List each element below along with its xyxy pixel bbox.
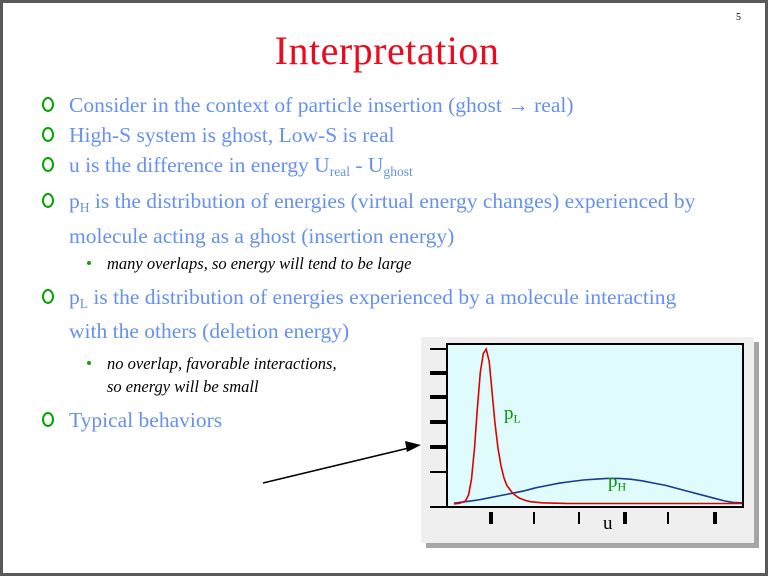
- bullet-item-4: pH is the distribution of energies (virt…: [39, 187, 739, 251]
- y-tick: [430, 506, 446, 508]
- label-ph-sub: H: [618, 479, 627, 493]
- slide-number: 5: [736, 12, 741, 23]
- y-tick: [430, 395, 446, 399]
- bullet-ring-icon: [42, 289, 54, 304]
- y-tick: [430, 471, 446, 473]
- bullet-text-mid: is the distribution of energies (virtual…: [69, 189, 695, 248]
- subscript-ghost: ghost: [383, 164, 412, 179]
- label-ph-base: p: [608, 471, 618, 492]
- x-tick: [533, 512, 535, 524]
- x-tick: [578, 512, 580, 524]
- subscript-real: real: [330, 164, 350, 179]
- subscript-h: H: [80, 200, 90, 215]
- label-pl-base: p: [504, 403, 514, 424]
- bullet-ring-icon: [42, 412, 54, 427]
- x-tick: [713, 512, 717, 524]
- y-tick: [430, 371, 446, 375]
- curve-pl: [454, 349, 742, 504]
- bullet-text: Consider in the context of particle inse…: [69, 93, 574, 117]
- bullet-text: Typical behaviors: [69, 408, 222, 432]
- bullet-text-mid: - U: [350, 153, 383, 177]
- label-pl-sub: L: [514, 411, 521, 425]
- bullet-text: u is the difference in energy U: [69, 153, 330, 177]
- curve-ph: [454, 478, 742, 503]
- curve-label-ph: pH: [608, 471, 626, 494]
- bullet-item-3: u is the difference in energy Ureal - Ug…: [39, 151, 739, 186]
- plot-area: pL pH: [446, 343, 744, 508]
- sub-bullet-item-1: many overlaps, so energy will tend to be…: [39, 252, 739, 275]
- bullet-ring-icon: [42, 127, 54, 142]
- bullet-text: p: [69, 189, 80, 213]
- x-axis-label: u: [603, 513, 613, 535]
- bullet-ring-icon: [42, 157, 54, 172]
- pointer-arrow: [253, 431, 428, 491]
- x-tick: [667, 512, 669, 524]
- y-tick: [430, 445, 446, 449]
- y-tick: [430, 420, 446, 424]
- sub-bullet-text-line1: no overlap, favorable interactions,: [107, 354, 337, 373]
- y-tick: [430, 348, 446, 350]
- bullet-item-2: High-S system is ghost, Low-S is real: [39, 121, 739, 150]
- slide: 5 Interpretation Consider in the context…: [0, 0, 768, 576]
- sub-bullet-dot-icon: [87, 261, 91, 265]
- bullet-text: p: [69, 285, 80, 309]
- sub-bullet-dot-icon: [87, 361, 91, 365]
- x-tick: [489, 512, 493, 524]
- sub-bullet-text: many overlaps, so energy will tend to be…: [107, 254, 411, 273]
- bullet-text: High-S system is ghost, Low-S is real: [69, 123, 394, 147]
- bullet-text-mid: is the distribution of energies experien…: [69, 285, 676, 344]
- bullet-ring-icon: [42, 97, 54, 112]
- chart-panel: pL pH u: [421, 337, 754, 543]
- curve-label-pl: pL: [504, 403, 521, 426]
- page-title: Interpretation: [3, 27, 768, 74]
- distribution-curves: [448, 345, 742, 506]
- bullet-item-1: Consider in the context of particle inse…: [39, 91, 739, 120]
- bullet-ring-icon: [42, 193, 54, 208]
- x-tick: [623, 512, 627, 524]
- subscript-l: L: [80, 295, 88, 310]
